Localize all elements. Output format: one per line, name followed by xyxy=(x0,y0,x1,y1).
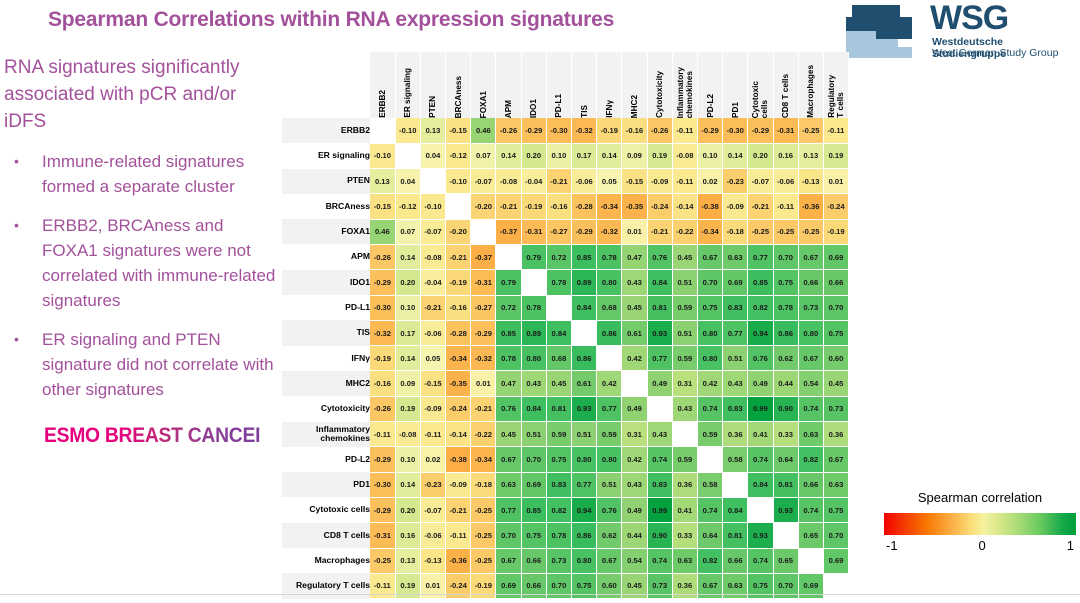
heatmap-cell: 0.14 xyxy=(496,143,521,168)
esmo-breast-cancer-logo: ESMO BREAST CANCER xyxy=(44,424,259,448)
heatmap-cell: 0.67 xyxy=(823,447,848,472)
heatmap-cell: -0.29 xyxy=(370,497,395,522)
heatmap-cell: 0.84 xyxy=(572,295,597,320)
heatmap-cell: 0.63 xyxy=(723,244,748,269)
heatmap-cell: 0.70 xyxy=(823,523,848,548)
heatmap-cell: -0.19 xyxy=(521,194,546,219)
heatmap-cell xyxy=(672,422,697,447)
bullet-dot-icon: • xyxy=(14,213,42,313)
heatmap-cell: 0.83 xyxy=(723,295,748,320)
heatmap-column-header-label: APM xyxy=(504,100,513,118)
heatmap-cell: -0.28 xyxy=(446,320,471,345)
heatmap-cell: -0.18 xyxy=(723,219,748,244)
heatmap-cell: -0.15 xyxy=(420,371,445,396)
legend-colorbar xyxy=(884,513,1076,535)
wsg-logo: WSG Westdeutsche Studiengruppe West Germ… xyxy=(846,2,1078,60)
heatmap-cell: -0.04 xyxy=(420,270,445,295)
heatmap-cell: 0.43 xyxy=(622,270,647,295)
heatmap-cell: 0.80 xyxy=(572,548,597,573)
heatmap-cell: -0.25 xyxy=(798,118,823,143)
heatmap-cell: -0.29 xyxy=(748,118,773,143)
heatmap-cell: 0.59 xyxy=(672,346,697,371)
heatmap-cell: 0.99 xyxy=(748,396,773,421)
heatmap-column-header: FOXA1 xyxy=(471,52,496,118)
heatmap-cell: 0.73 xyxy=(823,396,848,421)
heatmap-cell: 0.78 xyxy=(521,295,546,320)
heatmap-cell: -0.21 xyxy=(471,396,496,421)
heatmap-column-header-label: Regulatory T cells xyxy=(827,75,845,118)
heatmap-cell: 0.51 xyxy=(723,346,748,371)
heatmap-cell: 0.80 xyxy=(697,320,722,345)
heatmap-cell: 0.14 xyxy=(395,346,420,371)
legend-tick-labels: -1 0 1 xyxy=(884,538,1076,553)
heatmap-row: ERBB2-0.100.13-0.150.46-0.26-0.29-0.30-0… xyxy=(282,118,849,143)
heatmap-row: PD1-0.300.14-0.23-0.09-0.180.630.690.830… xyxy=(282,472,849,497)
heatmap-cell: -0.04 xyxy=(521,169,546,194)
heatmap-cell: -0.30 xyxy=(723,118,748,143)
heatmap-cell: 0.45 xyxy=(496,422,521,447)
heatmap-cell: 0.54 xyxy=(622,548,647,573)
heatmap-cell: 0.78 xyxy=(546,523,571,548)
heatmap-cell: -0.30 xyxy=(546,118,571,143)
heatmap-cell: 0.16 xyxy=(395,523,420,548)
heatmap-cell xyxy=(420,169,445,194)
heatmap-cell: 0.49 xyxy=(647,371,672,396)
heatmap-cell: 0.14 xyxy=(395,244,420,269)
heatmap-column-header-label: ERBB2 xyxy=(378,90,387,118)
heatmap-cell: 0.67 xyxy=(798,244,823,269)
heatmap-cell: 0.66 xyxy=(798,270,823,295)
heatmap-cell: 0.80 xyxy=(521,346,546,371)
heatmap-cell: -0.08 xyxy=(672,143,697,168)
heatmap-cell: -0.11 xyxy=(446,523,471,548)
heatmap-cell: 0.76 xyxy=(496,396,521,421)
heatmap-cell: -0.15 xyxy=(622,169,647,194)
heatmap-cell: 0.41 xyxy=(672,497,697,522)
heatmap-cell: -0.14 xyxy=(672,194,697,219)
heatmap-cell: -0.24 xyxy=(446,396,471,421)
heatmap-cell: 0.44 xyxy=(622,523,647,548)
heatmap-cell: -0.31 xyxy=(521,219,546,244)
heatmap-cell: -0.29 xyxy=(697,118,722,143)
heatmap-cell: 0.86 xyxy=(572,346,597,371)
heatmap-cell: 0.81 xyxy=(647,295,672,320)
heatmap-row-header: ERBB2 xyxy=(282,118,370,143)
heatmap-cell: 0.68 xyxy=(597,295,622,320)
heatmap-cell xyxy=(370,118,395,143)
heatmap-column-header-label: FOXA1 xyxy=(479,91,488,118)
heatmap-row: MHC2-0.160.09-0.15-0.350.010.470.430.450… xyxy=(282,371,849,396)
heatmap-cell: -0.25 xyxy=(471,497,496,522)
heatmap-cell: -0.13 xyxy=(798,169,823,194)
heatmap-cell: 0.67 xyxy=(496,447,521,472)
heatmap-cell: 0.80 xyxy=(597,270,622,295)
heatmap-column-header: PD-L2 xyxy=(697,52,722,118)
heatmap-column-header: PTEN xyxy=(420,52,445,118)
heatmap-cell: 0.99 xyxy=(647,497,672,522)
heatmap-cell: 0.19 xyxy=(823,143,848,168)
heatmap-cell: 0.82 xyxy=(697,548,722,573)
heatmap-cell: 0.84 xyxy=(748,472,773,497)
heatmap-cell: 0.07 xyxy=(395,219,420,244)
heatmap-column-header-label: CD8 T cells xyxy=(781,74,790,118)
heatmap-cell: 0.83 xyxy=(546,472,571,497)
heatmap-cell xyxy=(395,143,420,168)
heatmap-cell: 0.72 xyxy=(496,295,521,320)
heatmap-cell: 0.59 xyxy=(672,295,697,320)
heatmap-cell: 0.09 xyxy=(395,371,420,396)
heatmap-cell: 0.80 xyxy=(572,447,597,472)
heatmap-cell: 0.02 xyxy=(697,169,722,194)
heatmap-cell: -0.16 xyxy=(446,295,471,320)
heatmap-cell: 0.76 xyxy=(597,497,622,522)
heatmap-cell: -0.12 xyxy=(395,194,420,219)
heatmap-cell: 0.74 xyxy=(647,447,672,472)
heatmap-cell xyxy=(773,523,798,548)
heatmap-cell xyxy=(521,270,546,295)
heatmap-cell: 0.75 xyxy=(697,295,722,320)
heatmap-column-header: Cytotoxicity xyxy=(647,52,672,118)
heatmap-cell: 0.81 xyxy=(723,523,748,548)
heatmap-cell: 0.10 xyxy=(395,295,420,320)
heatmap-row-header: Cytotoxicity xyxy=(282,396,370,421)
heatmap-cell: -0.26 xyxy=(647,118,672,143)
heatmap-cell: -0.31 xyxy=(471,270,496,295)
heatmap-cell: 0.17 xyxy=(395,320,420,345)
heatmap-cell: -0.34 xyxy=(597,194,622,219)
heatmap-cell: -0.24 xyxy=(823,194,848,219)
heatmap-cell xyxy=(647,396,672,421)
heatmap-cell xyxy=(622,371,647,396)
heatmap-cell: 0.66 xyxy=(521,548,546,573)
heatmap-column-header: IFNγ xyxy=(597,52,622,118)
heatmap-cell: 0.81 xyxy=(546,396,571,421)
heatmap-cell: 0.04 xyxy=(395,169,420,194)
heatmap-row: TIS-0.320.17-0.06-0.28-0.290.850.890.840… xyxy=(282,320,849,345)
heatmap-cell: 0.49 xyxy=(622,396,647,421)
heatmap-cell: 0.64 xyxy=(697,523,722,548)
heatmap-cell: 0.70 xyxy=(521,447,546,472)
heatmap-cell: -0.21 xyxy=(748,194,773,219)
heatmap-cell: -0.11 xyxy=(672,169,697,194)
heatmap-cell: -0.30 xyxy=(370,472,395,497)
heatmap-cell: -0.06 xyxy=(773,169,798,194)
heatmap-column-header: ER signaling xyxy=(395,52,420,118)
heatmap-cell: 0.72 xyxy=(546,244,571,269)
heatmap-row: IDO1-0.290.20-0.04-0.19-0.310.790.780.89… xyxy=(282,270,849,295)
heatmap-cell: -0.07 xyxy=(748,169,773,194)
heatmap-cell: 0.69 xyxy=(521,472,546,497)
heatmap-cell: -0.36 xyxy=(798,194,823,219)
heatmap-row: Cytotoxic cells-0.290.20-0.07-0.21-0.250… xyxy=(282,497,849,522)
heatmap-cell: 0.45 xyxy=(546,371,571,396)
heatmap-cell: -0.10 xyxy=(446,169,471,194)
heatmap-cell: -0.10 xyxy=(420,194,445,219)
heatmap-cell: -0.06 xyxy=(420,523,445,548)
heatmap-cell: -0.27 xyxy=(471,295,496,320)
heatmap-cell: 0.82 xyxy=(748,295,773,320)
heatmap-cell: -0.38 xyxy=(446,447,471,472)
heatmap-cell: 0.60 xyxy=(823,346,848,371)
heatmap-column-header-label: MHC2 xyxy=(630,95,639,118)
heatmap-column-header: APM xyxy=(496,52,521,118)
heatmap-cell xyxy=(546,295,571,320)
heatmap-cell: 0.19 xyxy=(395,396,420,421)
heatmap-cell: -0.08 xyxy=(395,422,420,447)
heatmap-cell: 0.70 xyxy=(823,295,848,320)
heatmap-row-header: MHC2 xyxy=(282,371,370,396)
heatmap-cell: -0.22 xyxy=(672,219,697,244)
heatmap-cell: 0.42 xyxy=(622,447,647,472)
heatmap-row: APM-0.260.14-0.08-0.21-0.370.790.720.850… xyxy=(282,244,849,269)
heatmap-row: BRCAness-0.15-0.12-0.10-0.20-0.21-0.19-0… xyxy=(282,194,849,219)
heatmap-row: PD-L1-0.300.10-0.21-0.16-0.270.720.780.8… xyxy=(282,295,849,320)
heatmap-row: FOXA10.460.07-0.07-0.20-0.37-0.31-0.27-0… xyxy=(282,219,849,244)
heatmap-cell: -0.10 xyxy=(395,118,420,143)
heatmap-cell: 0.31 xyxy=(622,422,647,447)
heatmap-cell: 0.20 xyxy=(521,143,546,168)
heatmap-cell: 0.59 xyxy=(672,447,697,472)
heatmap-cell: 0.63 xyxy=(798,422,823,447)
heatmap-cell: 0.51 xyxy=(521,422,546,447)
heatmap-cell: -0.24 xyxy=(647,194,672,219)
heatmap-cell: -0.23 xyxy=(420,472,445,497)
heatmap-column-header: TIS xyxy=(572,52,597,118)
heatmap-cell: -0.22 xyxy=(471,422,496,447)
heatmap-column-header-label: TIS xyxy=(580,105,589,118)
heatmap-cell: -0.07 xyxy=(471,169,496,194)
heatmap-cell: -0.11 xyxy=(420,422,445,447)
heatmap-cell: -0.10 xyxy=(370,143,395,168)
heatmap-cell: 0.01 xyxy=(622,219,647,244)
heatmap-cell: -0.19 xyxy=(446,270,471,295)
heatmap-cell: 0.36 xyxy=(823,422,848,447)
heatmap-row-header: PD-L2 xyxy=(282,447,370,472)
heatmap-row: Macrophages-0.250.13-0.13-0.36-0.250.670… xyxy=(282,548,849,573)
heatmap-column-header-label: PD1 xyxy=(731,102,740,118)
heatmap-row: PD-L2-0.290.100.02-0.38-0.340.670.700.75… xyxy=(282,447,849,472)
heatmap-cell: -0.11 xyxy=(672,118,697,143)
heatmap-cell: 0.69 xyxy=(823,548,848,573)
heatmap-column-header: IDO1 xyxy=(521,52,546,118)
heatmap-cell: 0.46 xyxy=(471,118,496,143)
heatmap-cell: 0.43 xyxy=(647,422,672,447)
heatmap-cell: -0.36 xyxy=(446,548,471,573)
heatmap-column-header: CD8 T cells xyxy=(773,52,798,118)
heatmap-cell: 0.89 xyxy=(572,270,597,295)
heatmap-cell: 0.61 xyxy=(622,320,647,345)
heatmap-cell: -0.19 xyxy=(370,346,395,371)
bullet-text: ER signaling and PTEN signature did not … xyxy=(42,327,278,402)
heatmap-cell: 0.70 xyxy=(773,244,798,269)
heatmap-cell: 0.58 xyxy=(697,472,722,497)
heatmap-cell: 0.78 xyxy=(496,346,521,371)
heatmap-cell: 0.49 xyxy=(748,371,773,396)
footer-divider xyxy=(0,594,1080,595)
heatmap-row-header: APM xyxy=(282,244,370,269)
heatmap-cell: -0.25 xyxy=(471,523,496,548)
heatmap-cell: -0.32 xyxy=(597,219,622,244)
heatmap-row-header: PD-L1 xyxy=(282,295,370,320)
heatmap-cell: 0.43 xyxy=(622,472,647,497)
heatmap-cell: -0.29 xyxy=(370,447,395,472)
heatmap-cell: 0.04 xyxy=(420,143,445,168)
heatmap-cell: 0.13 xyxy=(420,118,445,143)
heatmap-cell: 0.62 xyxy=(597,523,622,548)
heatmap-cell: -0.18 xyxy=(471,472,496,497)
heatmap-cell: 0.45 xyxy=(823,371,848,396)
heatmap-cell: 0.84 xyxy=(546,320,571,345)
heatmap-row-header: Cytotoxic cells xyxy=(282,497,370,522)
heatmap-column-header: BRCAness xyxy=(446,52,471,118)
heatmap-cell: 0.09 xyxy=(622,143,647,168)
heatmap-cell: 0.59 xyxy=(697,422,722,447)
heatmap-cell: 0.90 xyxy=(773,396,798,421)
heatmap-row-header: ER signaling xyxy=(282,143,370,168)
heatmap-cell: -0.16 xyxy=(370,371,395,396)
heatmap-cell: 0.85 xyxy=(496,320,521,345)
heatmap-cell: 0.70 xyxy=(697,270,722,295)
heatmap-cell: 0.20 xyxy=(395,270,420,295)
heatmap-cell: 0.36 xyxy=(723,422,748,447)
heatmap-cell: 0.83 xyxy=(647,472,672,497)
heatmap-column-header-label: PD-L1 xyxy=(554,94,563,118)
heatmap-cell: 0.19 xyxy=(647,143,672,168)
heatmap-cell: 0.47 xyxy=(622,244,647,269)
legend-title: Spearman correlation xyxy=(884,490,1076,505)
heatmap-cell: 0.69 xyxy=(823,244,848,269)
heatmap-cell xyxy=(446,194,471,219)
heatmap-cell: 0.85 xyxy=(572,244,597,269)
heatmap-cell: 0.36 xyxy=(672,472,697,497)
heatmap-cell: 0.42 xyxy=(597,371,622,396)
heatmap-cell: -0.14 xyxy=(446,422,471,447)
heatmap-cell: 0.74 xyxy=(697,497,722,522)
heatmap-cell xyxy=(798,548,823,573)
heatmap-row: ER signaling-0.100.04-0.120.070.140.200.… xyxy=(282,143,849,168)
heatmap-cell: 0.76 xyxy=(748,346,773,371)
heatmap-column-header-label: PTEN xyxy=(428,96,437,118)
heatmap-row-header: BRCAness xyxy=(282,194,370,219)
heatmap-row: PTEN0.130.04-0.10-0.07-0.08-0.04-0.21-0.… xyxy=(282,169,849,194)
heatmap-cell: 0.43 xyxy=(672,396,697,421)
heatmap-cell: 0.79 xyxy=(521,244,546,269)
heatmap-corner xyxy=(282,52,370,118)
heatmap-cell: 0.77 xyxy=(496,497,521,522)
heatmap-cell: 0.66 xyxy=(798,472,823,497)
heatmap-cell: 0.68 xyxy=(546,346,571,371)
heatmap-cell: 0.61 xyxy=(572,371,597,396)
heatmap-cell: -0.21 xyxy=(496,194,521,219)
heatmap-cell: -0.29 xyxy=(471,320,496,345)
heatmap-cell: -0.12 xyxy=(446,143,471,168)
heatmap-row-header: CD8 T cells xyxy=(282,523,370,548)
heatmap-cell: -0.29 xyxy=(370,270,395,295)
heatmap-cell: 0.64 xyxy=(773,447,798,472)
heatmap-cell: 0.93 xyxy=(647,320,672,345)
heatmap-column-header: Regulatory T cells xyxy=(823,52,848,118)
heatmap-cell: 0.51 xyxy=(597,472,622,497)
bullet-dot-icon: • xyxy=(14,149,42,199)
heatmap-cell: -0.11 xyxy=(823,118,848,143)
correlation-heatmap: ERBB2ER signalingPTENBRCAnessFOXA1APMIDO… xyxy=(282,52,849,599)
heatmap-column-header-label: Cytotoxicity xyxy=(655,71,664,118)
heatmap-row-header: TIS xyxy=(282,320,370,345)
heatmap-column-header: PD-L1 xyxy=(546,52,571,118)
heatmap-cell: -0.29 xyxy=(572,219,597,244)
heatmap-cell: 0.42 xyxy=(697,371,722,396)
heatmap-row-header: FOXA1 xyxy=(282,219,370,244)
heatmap-cell: 0.14 xyxy=(597,143,622,168)
heatmap-cell: -0.29 xyxy=(521,118,546,143)
heatmap-table: ERBB2ER signalingPTENBRCAnessFOXA1APMIDO… xyxy=(282,52,849,599)
heatmap-cell: 0.20 xyxy=(748,143,773,168)
heatmap-cell: 0.79 xyxy=(496,270,521,295)
heatmap-cell: 0.51 xyxy=(672,320,697,345)
heatmap-cell: 0.90 xyxy=(647,523,672,548)
heatmap-cell: 0.42 xyxy=(622,346,647,371)
heatmap-cell: -0.15 xyxy=(370,194,395,219)
heatmap-cell: 0.63 xyxy=(496,472,521,497)
heatmap-cell: -0.32 xyxy=(471,346,496,371)
heatmap-column-header-label: Inflammatory chemokines xyxy=(676,67,694,118)
heatmap-cell: -0.34 xyxy=(471,447,496,472)
heatmap-cell: 0.70 xyxy=(496,523,521,548)
heatmap-cell: 0.86 xyxy=(572,523,597,548)
heatmap-cell: -0.25 xyxy=(748,219,773,244)
heatmap-cell: -0.19 xyxy=(823,219,848,244)
heatmap-cell: 0.75 xyxy=(521,523,546,548)
heatmap-cell: 0.43 xyxy=(521,371,546,396)
bullet-text: Immune-related signatures formed a separ… xyxy=(42,149,278,199)
heatmap-cell: 0.59 xyxy=(546,422,571,447)
heatmap-cell: 0.73 xyxy=(798,295,823,320)
heatmap-cell: -0.19 xyxy=(597,118,622,143)
heatmap-cell: 0.02 xyxy=(420,447,445,472)
heatmap-cell xyxy=(597,346,622,371)
heatmap-cell: -0.08 xyxy=(420,244,445,269)
heatmap-cell: 0.49 xyxy=(622,497,647,522)
heatmap-cell: -0.21 xyxy=(446,497,471,522)
heatmap-cell: 0.85 xyxy=(748,270,773,295)
wsg-subtitle-en: West German Study Group xyxy=(932,47,1058,59)
heatmap-cell: -0.23 xyxy=(723,169,748,194)
left-text-panel: RNA signatures significantly associated … xyxy=(2,54,278,448)
heatmap-cell: -0.06 xyxy=(572,169,597,194)
heatmap-cell: -0.31 xyxy=(773,118,798,143)
heatmap-cell: 0.75 xyxy=(823,320,848,345)
heatmap-cell: 0.80 xyxy=(697,346,722,371)
heatmap-cell: 0.01 xyxy=(471,371,496,396)
heatmap-cell xyxy=(496,244,521,269)
heatmap-row: IFNγ-0.190.140.05-0.34-0.320.780.800.680… xyxy=(282,346,849,371)
heatmap-cell: -0.09 xyxy=(723,194,748,219)
heatmap-cell: 0.45 xyxy=(672,244,697,269)
heatmap-cell: 0.80 xyxy=(798,320,823,345)
heatmap-cell: 0.78 xyxy=(773,295,798,320)
heatmap-header: ERBB2ER signalingPTENBRCAnessFOXA1APMIDO… xyxy=(282,52,849,118)
heatmap-column-header-label: IDO1 xyxy=(529,99,538,118)
heatmap-cell: -0.34 xyxy=(446,346,471,371)
heatmap-cell: 0.75 xyxy=(546,447,571,472)
heatmap-column-header: ERBB2 xyxy=(370,52,395,118)
heatmap-cell: 0.13 xyxy=(395,548,420,573)
heatmap-row-header: PTEN xyxy=(282,169,370,194)
heatmap-cell: 0.43 xyxy=(723,371,748,396)
heatmap-cell: 0.74 xyxy=(647,548,672,573)
heatmap-cell: 0.14 xyxy=(395,472,420,497)
heatmap-cell: 0.76 xyxy=(647,244,672,269)
